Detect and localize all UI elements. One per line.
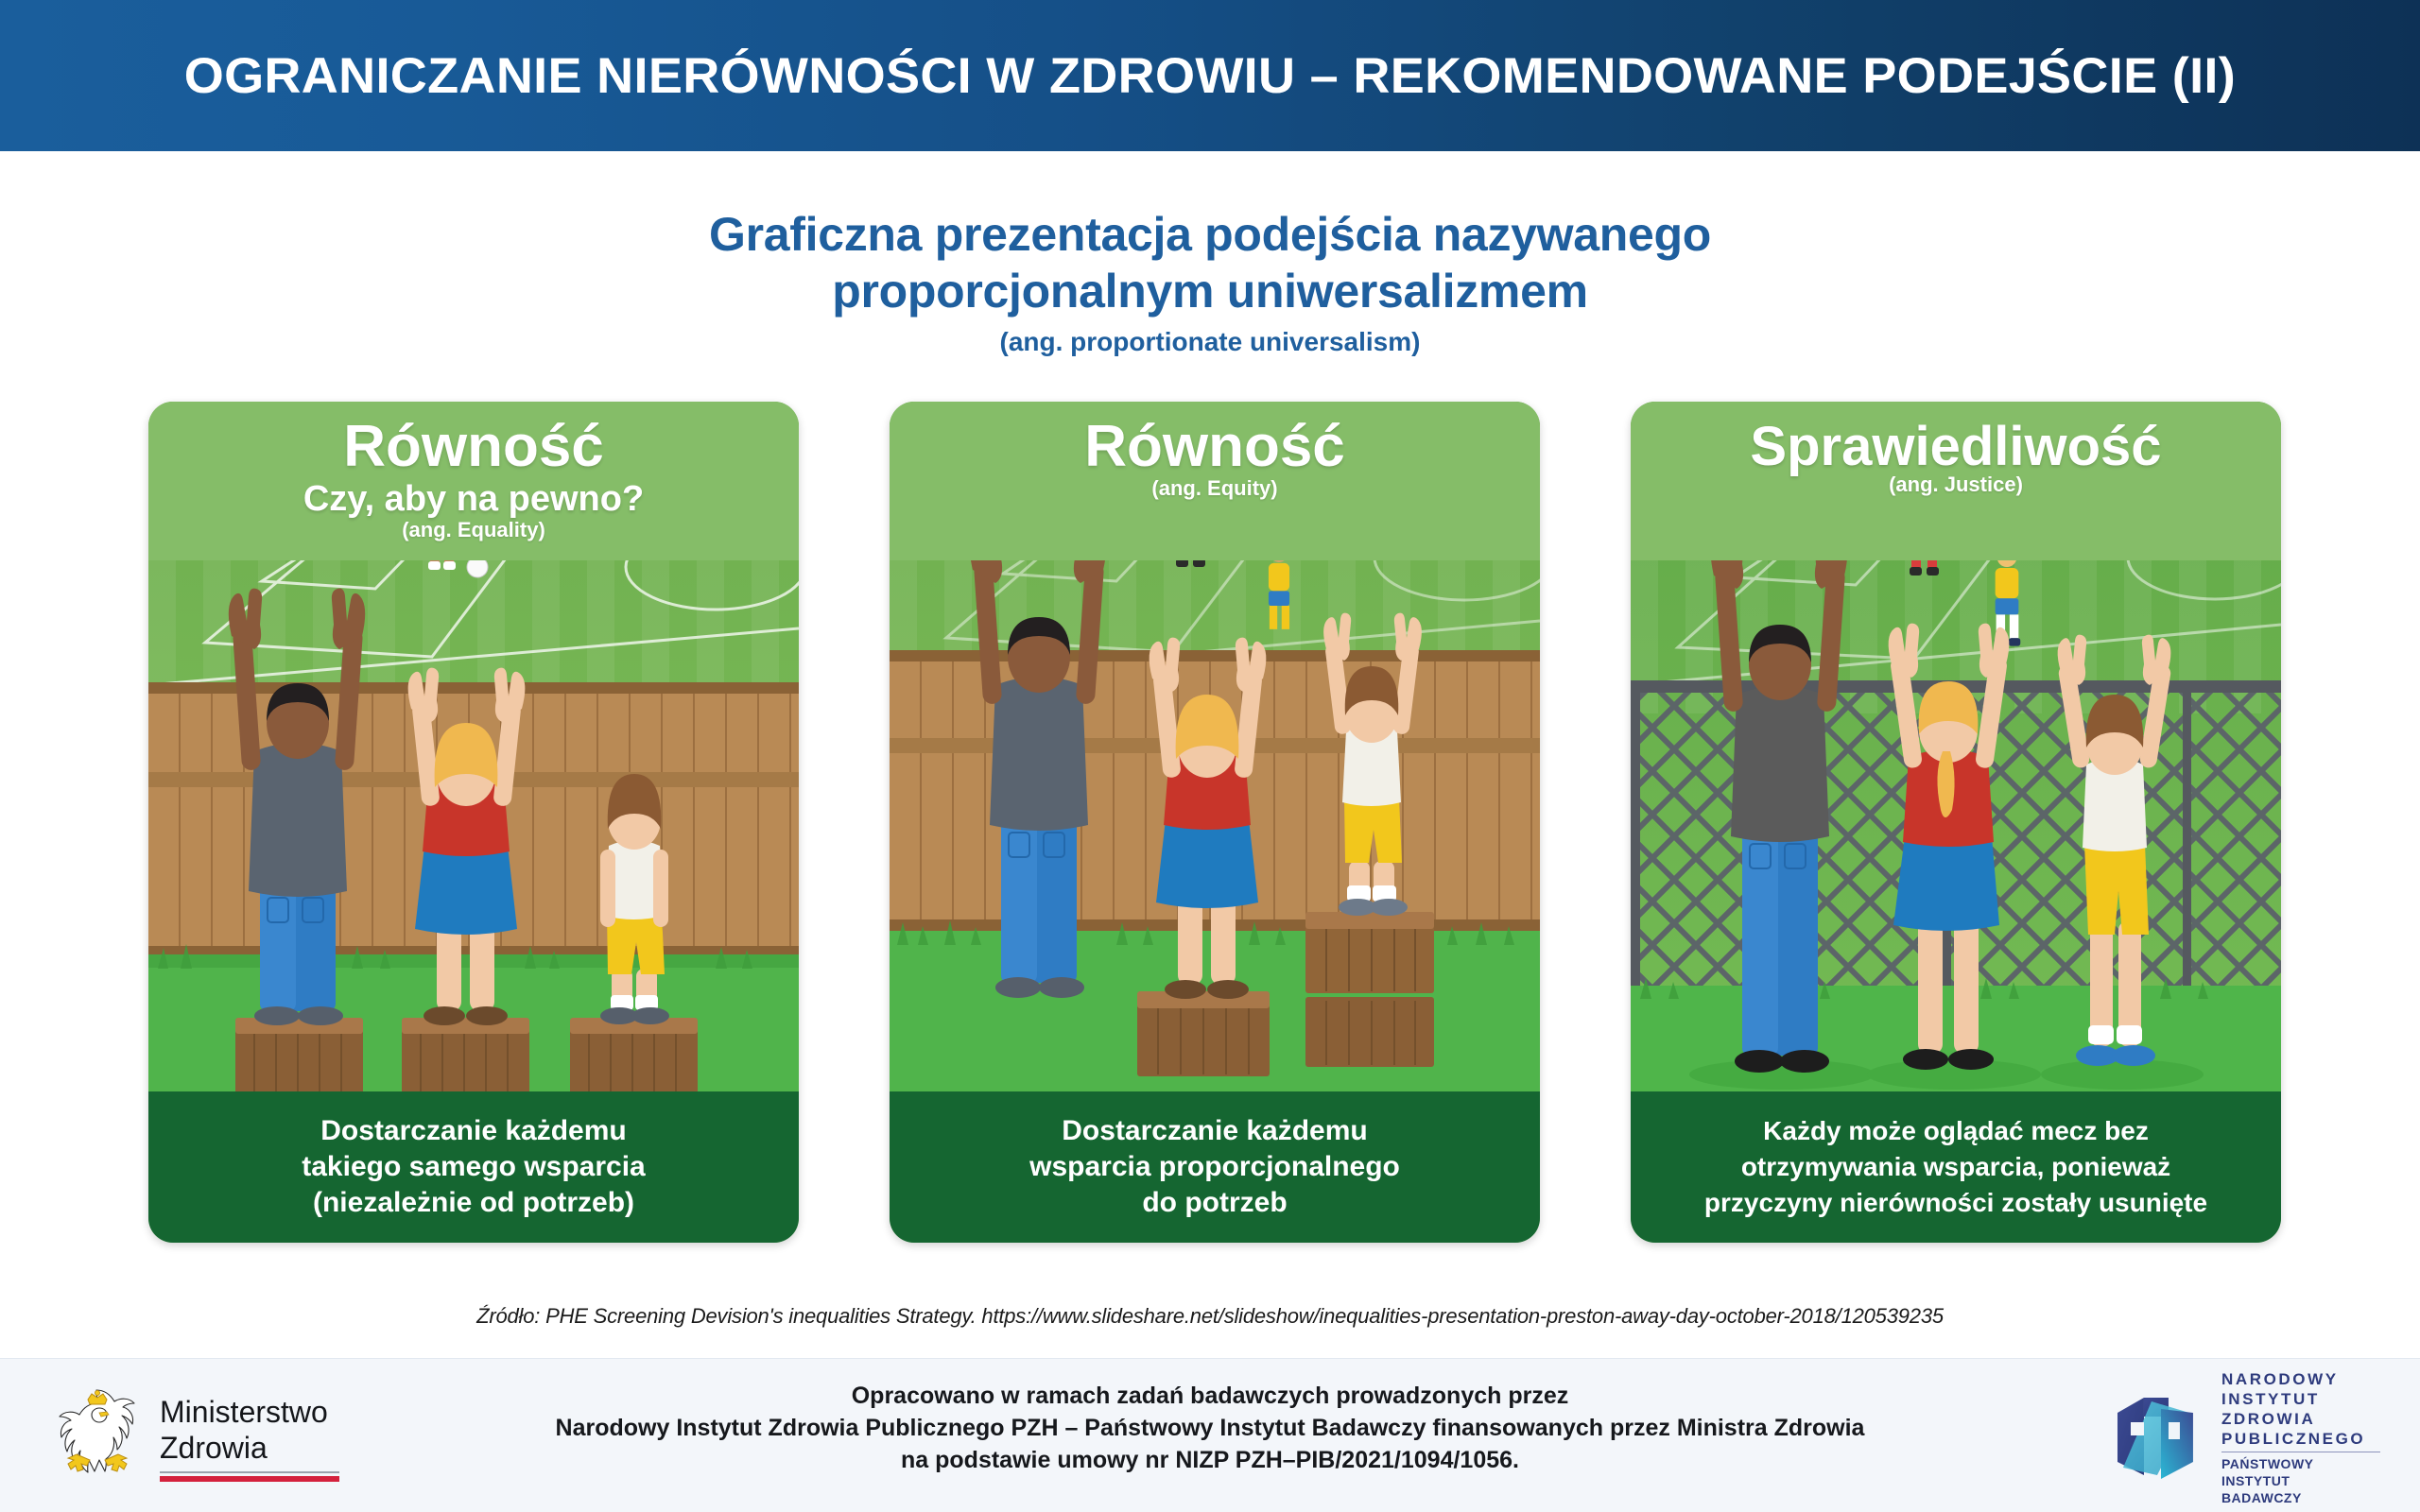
caption-line: Dostarczanie każdemu [320, 1113, 626, 1149]
caption-line: (niezależnie od potrzeb) [313, 1185, 634, 1221]
caption-line: Dostarczanie każdemu [1062, 1113, 1367, 1149]
header-bar: OGRANICZANIE NIERÓWNOŚCI W ZDROWIU – REK… [0, 0, 2420, 151]
pzh-logo-line-1: NARODOWY [2221, 1369, 2386, 1389]
panel-equity-header: Równość (ang. Equity) [890, 402, 1540, 560]
panel-english-label: (ang. Equity) [1151, 475, 1277, 502]
footer-line: na podstawie umowy nr NIZP PZH–PIB/2021/… [529, 1444, 1891, 1476]
caption-line: takiego samego wsparcia [302, 1149, 646, 1185]
ministry-logo-rule [160, 1471, 339, 1482]
caption-line: do potrzeb [1142, 1185, 1287, 1221]
subtitle-line-1: Graficzna prezentacja podejścia nazywane… [0, 206, 2420, 263]
panel-equality: Równość Czy, aby na pewno? (ang. Equalit… [148, 402, 799, 1243]
panel-justice-caption: Każdy może oglądać mecz bez otrzymywania… [1631, 1091, 2281, 1243]
footer-funding-note: Opracowano w ramach zadań badawczych pro… [529, 1380, 1891, 1476]
panel-equity-caption: Dostarczanie każdemu wsparcia proporcjon… [890, 1091, 1540, 1243]
caption-line: przyczyny nierówności zostały usunięte [1704, 1185, 2207, 1221]
pzh-logo-line-2: INSTYTUT [2221, 1389, 2386, 1409]
page-title: OGRANICZANIE NIERÓWNOŚCI W ZDROWIU – REK… [184, 47, 2236, 105]
subtitle-english: (ang. proportionate universalism) [0, 323, 2420, 361]
panel-title: Sprawiedliwość [1750, 415, 2161, 479]
footer-line: Opracowano w ramach zadań badawczych pro… [529, 1380, 1891, 1412]
pzh-monogram-icon [2102, 1384, 2208, 1490]
polish-eagle-emblem [52, 1388, 143, 1486]
subtitle-block: Graficzna prezentacja podejścia nazywane… [0, 206, 2420, 361]
ministry-logo-line-1: Ministerstwo [160, 1394, 339, 1430]
pzh-logo-line-3: ZDROWIA [2221, 1409, 2386, 1429]
footer-line: Narodowy Instytut Zdrowia Publicznego PZ… [529, 1412, 1891, 1444]
panel-justice: Sprawiedliwość (ang. Justice) Każdy może… [1631, 402, 2281, 1243]
subtitle-line-2: proporcjonalnym uniwersalizmem [0, 263, 2420, 319]
panel-equity: Równość (ang. Equity) Dostarczanie każde… [890, 402, 1540, 1243]
pzh-logo-line-4: PUBLICZNEGO [2221, 1429, 2386, 1449]
panel-english-label: (ang. Justice) [1889, 472, 2023, 498]
panels-row: Równość Czy, aby na pewno? (ang. Equalit… [0, 402, 2420, 1243]
pzh-logo-sub-1: PAŃSTWOWY INSTYTUT [2221, 1455, 2386, 1489]
caption-line: otrzymywania wsparcia, ponieważ [1741, 1149, 2170, 1185]
ministry-logo-line-2: Zdrowia [160, 1430, 339, 1466]
spectator-adult-woman [402, 668, 529, 1098]
caption-line: Każdy może oglądać mecz bez [1763, 1113, 2149, 1149]
panel-english-label: (ang. Equality) [402, 517, 545, 543]
source-citation: Źródło: PHE Screening Devision's inequal… [0, 1304, 2420, 1329]
panel-equality-header: Równość Czy, aby na pewno? (ang. Equalit… [148, 402, 799, 560]
nizp-pzh-logo: NARODOWY INSTYTUT ZDROWIA PUBLICZNEGO PA… [2102, 1380, 2386, 1495]
panel-title: Równość [1084, 415, 1345, 479]
pzh-logo-sub-2: BADAWCZY [2221, 1489, 2386, 1506]
footer-bar: Ministerstwo Zdrowia Opracowano w ramach… [0, 1358, 2420, 1512]
caption-line: wsparcia proporcjonalnego [1029, 1149, 1400, 1185]
pzh-logo-rule [2221, 1452, 2380, 1452]
panel-justice-header: Sprawiedliwość (ang. Justice) [1631, 402, 2281, 560]
ministry-of-health-logo: Ministerstwo Zdrowia [52, 1382, 392, 1493]
panel-title: Równość [343, 415, 604, 479]
panel-subtitle: Czy, aby na pewno? [303, 479, 644, 519]
panel-equality-caption: Dostarczanie każdemu takiego samego wspa… [148, 1091, 799, 1243]
